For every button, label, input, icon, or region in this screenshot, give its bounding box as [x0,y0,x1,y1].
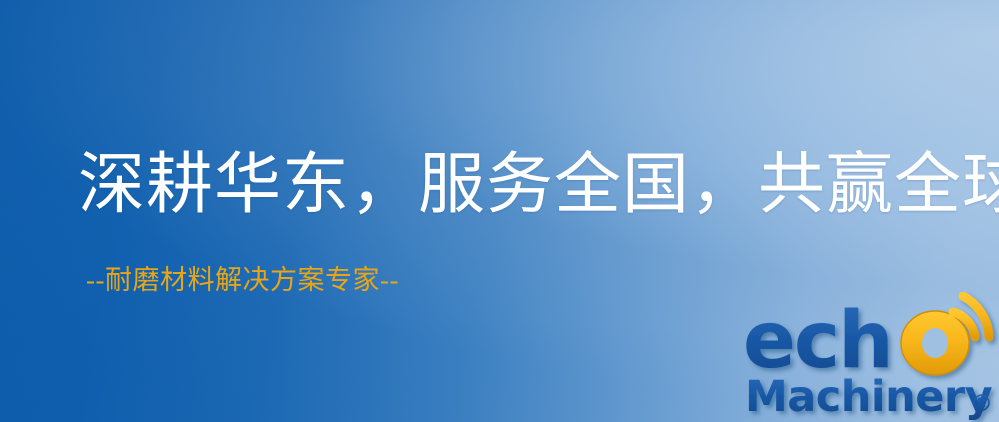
logo-letter-o-gold [901,311,969,375]
banner-subtitle: --耐磨材料解决方案专家-- [86,264,399,296]
logo-registered-mark: ® [970,391,993,417]
echo-machinery-logo[interactable]: ech Machinery ® [735,292,999,422]
logo-machinery-text: Machinery [745,372,993,422]
promotional-banner: 深耕华东，服务全国，共赢全球 --耐磨材料解决方案专家-- [0,0,999,422]
banner-headline: 深耕华东，服务全国，共赢全球 [78,150,999,221]
logo-tagline-group: Machinery ® [745,372,993,422]
logo-artwork: ech Machinery ® [735,292,999,422]
